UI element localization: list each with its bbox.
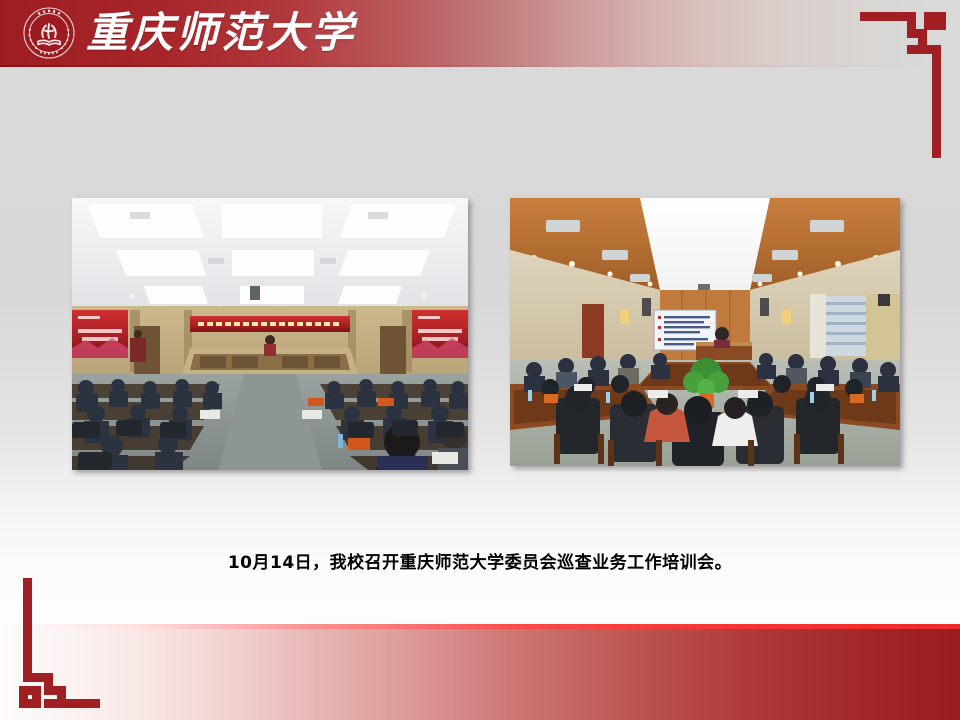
photo-meeting-room: [510, 198, 900, 466]
slide-canvas: 重庆师范大学: [0, 0, 960, 720]
slide-caption: 10月14日，我校召开重庆师范大学委员会巡查业务工作培训会。: [0, 548, 960, 573]
footer-banner: [0, 624, 960, 720]
university-wordmark: 重庆师范大学: [86, 3, 336, 63]
footer-gradient-fill: [0, 629, 960, 720]
header-banner: 重庆师范大学: [0, 0, 960, 67]
chinese-corner-ornament-top-right: [860, 6, 946, 158]
chinese-corner-ornament-bottom-left: [14, 578, 106, 708]
photo-lecture-hall: [72, 198, 468, 470]
university-seal-icon: [22, 6, 76, 60]
